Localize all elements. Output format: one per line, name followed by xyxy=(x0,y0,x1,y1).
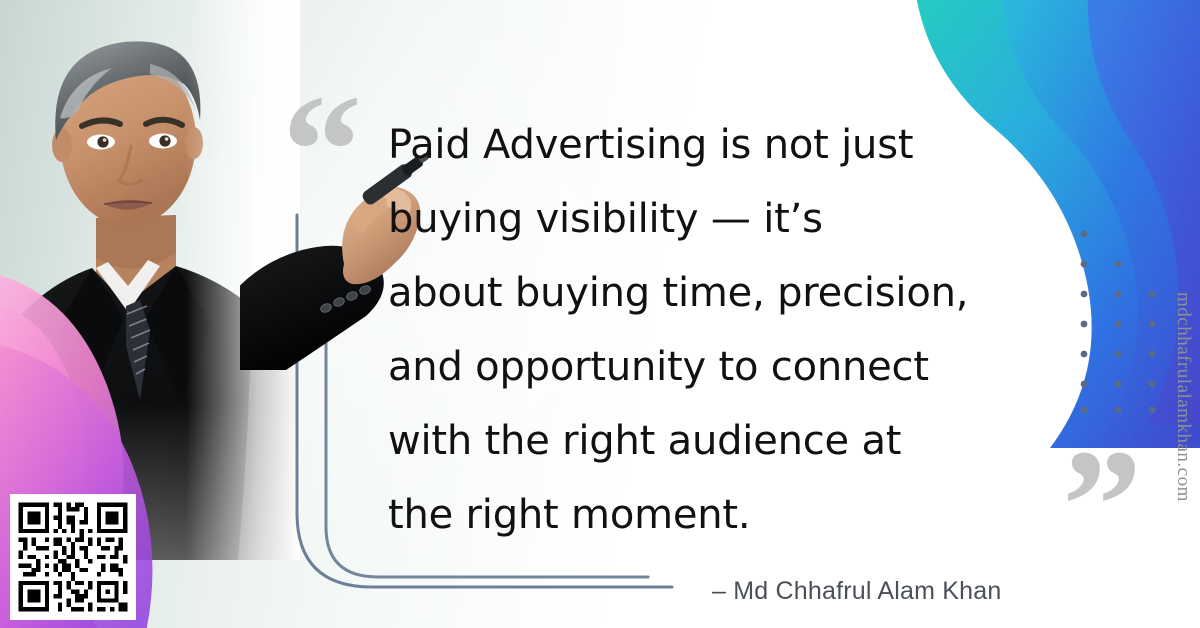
opening-quote-mark: “ xyxy=(282,70,364,230)
attribution-text: – Md Chhafrul Alam Khan xyxy=(712,577,1001,606)
quote-text-block: Paid Advertising is not just buying visi… xyxy=(388,108,1088,552)
closing-quote-mark: ” xyxy=(1062,425,1144,585)
quote-line: with the right audience at xyxy=(388,404,1088,478)
portrait-photo xyxy=(0,0,300,560)
quote-line: buying visibility — it’s xyxy=(388,182,1088,256)
website-url: mdchhafrulalamkhan.com xyxy=(1172,292,1194,502)
quote-line: the right moment. xyxy=(388,478,1088,552)
quote-line: about buying time, precision, xyxy=(388,256,1088,330)
quote-card: “ Paid Advertising is not just buying vi… xyxy=(0,0,1200,628)
quote-line: Paid Advertising is not just xyxy=(388,108,1088,182)
qr-code[interactable] xyxy=(10,494,136,620)
quote-line: and opportunity to connect xyxy=(388,330,1088,404)
